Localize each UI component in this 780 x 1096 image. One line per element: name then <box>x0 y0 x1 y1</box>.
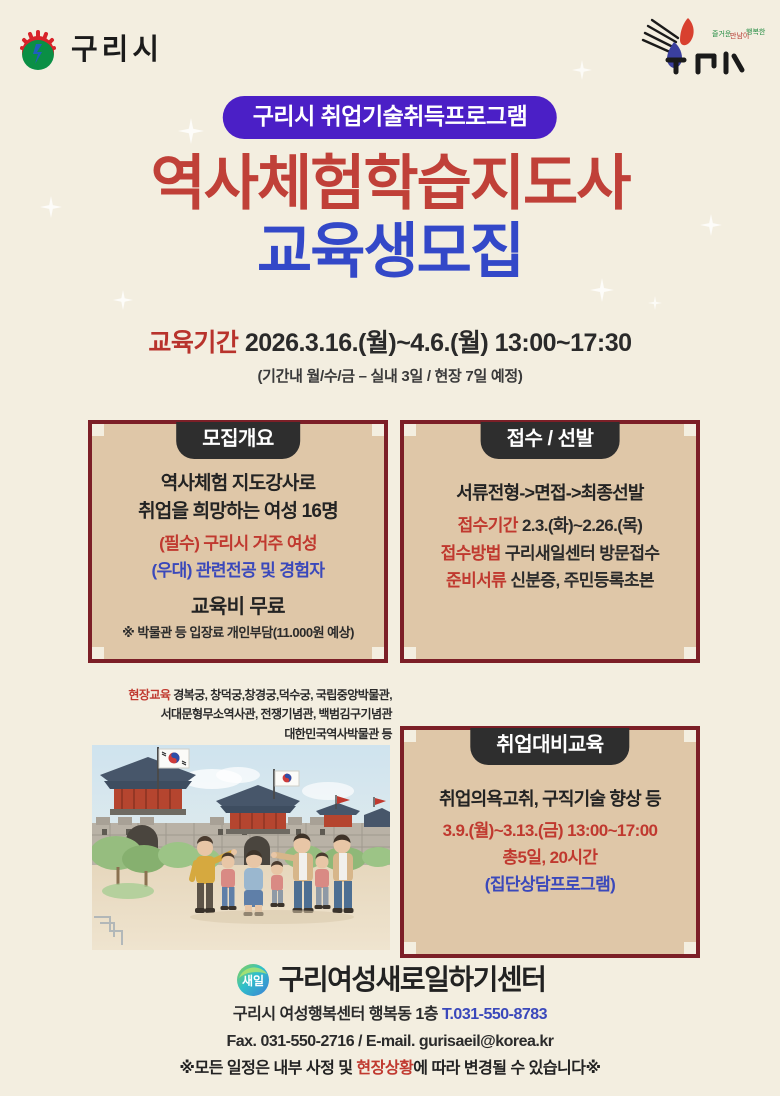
panel-jobprep-header: 취업대비교육 <box>470 728 629 765</box>
recruit-preferred: (우대) 관련전공 및 경험자 <box>92 558 384 585</box>
apply-row-documents-value: 신분증, 주민등록초본 <box>510 571 654 590</box>
apply-row-period: 접수기간 2.3.(화)~2.26.(목) <box>404 512 696 540</box>
apply-row-period-value: 2.3.(화)~2.26.(목) <box>522 516 642 535</box>
training-period: 교육기간 2026.3.16.(월)~4.6.(월) 13:00~17:30 (… <box>0 328 780 386</box>
jobprep-line-1: 취업의욕고취, 구직기술 향상 등 <box>404 786 696 812</box>
recruit-required: (필수) 구리시 거주 여성 <box>92 531 384 558</box>
onsite-line-1-rest: 경복궁, 창덕궁,창경궁,덕수궁, 국립중앙박물관, <box>173 688 392 702</box>
footer-brand: 새일 구리여성새로일하기센터 <box>0 962 780 998</box>
apply-row-method-value: 구리새일센터 방문접수 <box>505 544 660 563</box>
onsite-label: 현장교육 <box>128 688 170 702</box>
apply-row-documents-key: 준비서류 <box>446 571 506 590</box>
title-line-2: 교육생모집 <box>0 220 780 284</box>
footer-tel: T.031-550-8783 <box>442 1006 547 1023</box>
panel-recruit-overview: 모집개요 역사체험 지도강사로 취업을 희망하는 여성 16명 (필수) 구리시… <box>88 420 388 663</box>
jobprep-line-3: 총5일, 20시간 <box>404 845 696 872</box>
footer-contact: Fax. 031-550-2716 / E-mail. gurisaeil@ko… <box>0 1029 780 1055</box>
sparkle-icon <box>113 290 133 310</box>
poster-title: 역사체험학습지도사 교육생모집 <box>0 152 780 283</box>
apply-row-method: 접수방법 구리새일센터 방문접수 <box>404 540 696 568</box>
recruit-fee-note: ※ 박물관 등 입장료 개인부담(11.000원 예상) <box>92 623 384 643</box>
apply-row-method-key: 접수방법 <box>441 544 501 563</box>
svg-text:즐거운: 즐거운 <box>712 29 732 38</box>
onsite-education-note: 현장교육 경복궁, 창덕궁,창경궁,덕수궁, 국립중앙박물관, 서대문형무소역사… <box>96 686 392 744</box>
poster-root: 구리시 즐거운 만남이 행복한 <box>0 0 780 1096</box>
poster-header: 구리시 즐거운 만남이 행복한 <box>0 0 780 90</box>
apply-row-period-key: 접수기간 <box>458 516 518 535</box>
period-main-line: 교육기간 2026.3.16.(월)~4.6.(월) 13:00~17:30 <box>0 328 780 359</box>
svg-text:행복한: 행복한 <box>746 27 766 36</box>
recruit-line-2: 취업을 희망하는 여성 16명 <box>92 498 384 526</box>
poster-footer: 새일 구리여성새로일하기센터 구리시 여성행복센터 행복동 1층 T.031-5… <box>0 962 780 1082</box>
footer-disclaimer-post: 에 따라 변경될 수 있습니다※ <box>413 1060 600 1077</box>
footer-disclaimer: ※모든 일정은 내부 사정 및 현장상황에 따라 변경될 수 있습니다※ <box>0 1056 780 1082</box>
panel-recruit-header: 모집개요 <box>176 422 300 459</box>
footer-address-line: 구리시 여성행복센터 행복동 1층 T.031-550-8783 <box>0 1002 780 1028</box>
jobprep-line-2: 3.9.(월)~3.13.(금) 13:00~17:00 <box>404 818 696 845</box>
guri-city-emblem-icon <box>14 26 62 74</box>
footer-disclaimer-highlight: 현장상황 <box>356 1060 413 1077</box>
korean-fortress-family-illustration <box>92 745 390 950</box>
footer-disclaimer-pre: ※모든 일정은 내부 사정 및 <box>179 1060 356 1077</box>
period-label: 교육기간 <box>148 329 238 357</box>
apply-process: 서류전형->면접->최종선발 <box>404 480 696 506</box>
onsite-line-2: 서대문형무소역사관, 전쟁기념관, 백범김구기념관 <box>96 705 392 724</box>
onsite-line-3: 대한민국역사박물관 등 <box>96 725 392 744</box>
onsite-line-1: 현장교육 경복궁, 창덕궁,창경궁,덕수궁, 국립중앙박물관, <box>96 686 392 705</box>
recruit-line-1: 역사체험 지도강사로 <box>92 470 384 498</box>
svg-text:새일: 새일 <box>242 973 264 988</box>
footer-brand-text: 구리여성새로일하기센터 <box>279 966 546 994</box>
period-value: 2026.3.16.(월)~4.6.(월) 13:00~17:30 <box>245 329 632 357</box>
program-badge: 구리시 취업기술취득프로그램 <box>223 96 557 139</box>
panel-apply-header: 접수 / 선발 <box>481 422 620 459</box>
city-logo: 구리시 <box>14 26 163 74</box>
panel-job-prep-education: 취업대비교육 취업의욕고취, 구직기술 향상 등 3.9.(월)~3.13.(금… <box>400 726 700 958</box>
city-logo-text: 구리시 <box>71 36 163 65</box>
sparkle-icon <box>178 118 204 144</box>
apply-row-documents: 준비서류 신분증, 주민등록초본 <box>404 567 696 595</box>
panel-application-selection: 접수 / 선발 서류전형->면접->최종선발 접수기간 2.3.(화)~2.26… <box>400 420 700 663</box>
recruit-fee: 교육비 무료 <box>92 591 384 623</box>
footer-address: 구리시 여성행복센터 행복동 1층 <box>233 1006 442 1023</box>
title-line-1: 역사체험학습지도사 <box>0 152 780 216</box>
jobprep-line-4: (집단상담프로그램) <box>404 872 696 899</box>
sparkle-icon <box>648 296 662 310</box>
saeil-logo-icon: 새일 <box>235 962 271 998</box>
guri-brand-logo: 즐거운 만남이 행복한 <box>626 8 766 78</box>
period-note: (기간내 월/수/금 – 실내 3일 / 현장 7일 예정) <box>0 365 780 386</box>
